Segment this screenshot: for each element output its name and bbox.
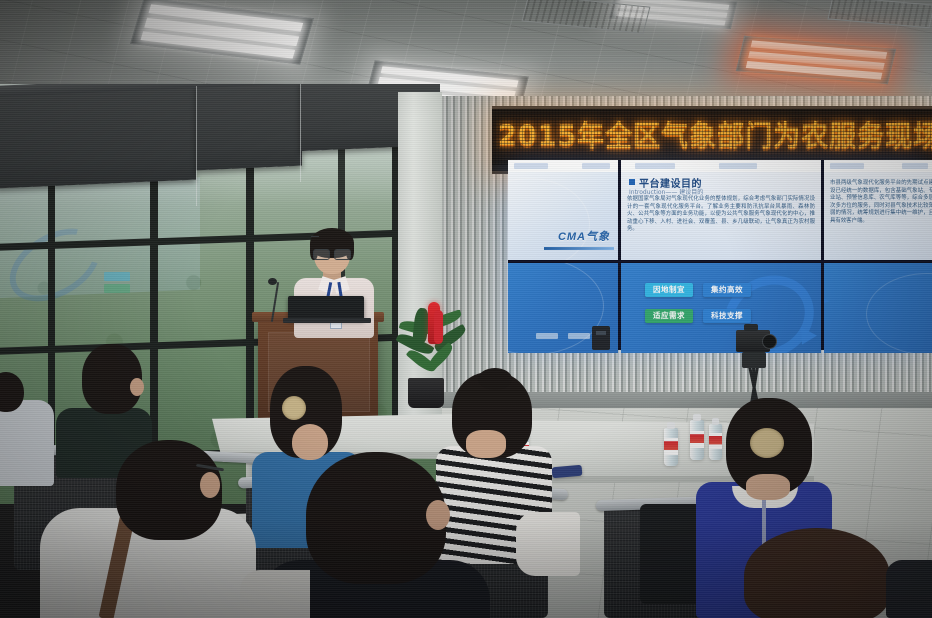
audience-person-1-torso — [0, 400, 54, 486]
audience-person-4-hair-bun — [478, 368, 512, 390]
panel6-arrow-tip — [824, 289, 830, 313]
plant-pot — [408, 378, 444, 408]
audience-person-6-head — [306, 452, 446, 584]
video-wall-panel-3: 市县两级气象现代化服务平台的先期试点建设已经统一的数据库，包含基础气象站、专业站… — [824, 160, 932, 260]
audience-person-9-torso — [886, 560, 932, 618]
slide-body-paragraph-2: 市县两级气象现代化服务平台的先期试点建设已经统一的数据库，包含基础气象站、专业站… — [830, 180, 932, 226]
water-bottle-2[interactable] — [664, 422, 678, 466]
audience-person-6-shoulder — [240, 570, 310, 618]
conference-room-photo: 2015年全区气象部门为农服务现场推进会 CMA气象 平台建设目的 — [0, 0, 932, 618]
slide-chip-4: 科技支撑 — [703, 309, 751, 323]
slide-tab-core-product — [719, 163, 757, 169]
presenter-glasses — [313, 249, 351, 258]
audience-person-8-head — [744, 528, 890, 618]
roller-blind-2[interactable] — [196, 84, 302, 170]
slide-tab-core-value — [582, 163, 610, 169]
water-bottle-4[interactable] — [709, 418, 722, 460]
podium-microphone-head — [268, 278, 277, 285]
podium-laptop-base — [283, 318, 371, 323]
led-pixel-grid — [492, 109, 932, 165]
slide-body-paragraph-1: 依据国家气象局对气象现代化业务的整体规划，综合考虑气象部门实际情况设计的一套气象… — [627, 196, 815, 234]
video-wall-grid: CMA气象 平台建设目的 Introduction—— 建设目的 依据国家气象局… — [508, 160, 932, 350]
video-wall-panel-6 — [824, 263, 932, 353]
audience-person-7-neck — [746, 474, 790, 500]
audience-person-7-hair-scrunchie — [750, 428, 784, 458]
slide-chip-3: 适应需求 — [645, 309, 693, 323]
roller-blind-1[interactable] — [0, 84, 196, 188]
blind-pull-chain-2[interactable] — [300, 84, 301, 182]
slide-tab-summary — [902, 163, 928, 169]
slide-tab-introduction — [514, 163, 548, 169]
slide-watermark: CMA气象 — [558, 228, 610, 244]
slide-bullet-icon — [629, 179, 635, 185]
panel4-button-1[interactable] — [536, 333, 558, 339]
podium-laptop[interactable] — [288, 296, 364, 320]
video-wall[interactable]: CMA气象 平台建设目的 Introduction—— 建设目的 依据国家气象局… — [508, 160, 932, 350]
slide-tab-key-technology — [830, 163, 864, 169]
video-wall-panel-1: CMA气象 — [508, 160, 618, 260]
panel6-swoosh — [866, 273, 932, 353]
panel4-swoosh — [508, 263, 604, 353]
av-device — [592, 326, 610, 350]
presenter-glasses-bridge — [311, 236, 319, 237]
blind-pull-chain-1[interactable] — [196, 86, 197, 206]
audience-person-6-ear — [426, 500, 450, 530]
av-device-indicator — [596, 331, 606, 335]
slide-watermark-bar — [544, 247, 614, 250]
plant-red-flower-2 — [434, 310, 443, 344]
camera-lens-icon — [762, 334, 777, 349]
slide-chip-2: 集约高效 — [703, 283, 751, 297]
video-wall-panel-2: 平台建设目的 Introduction—— 建设目的 依据国家气象局对气象现代化… — [621, 160, 821, 260]
video-wall-panel-5: 因地制宜 集约高效 适应需求 科技支撑 — [621, 263, 821, 353]
water-bottle-3[interactable] — [690, 414, 704, 460]
audience-person-3-neck — [292, 424, 328, 460]
panel4-button-2[interactable] — [568, 333, 590, 339]
slide-tab-core-technology — [635, 163, 675, 169]
audience-person-4-neck — [466, 430, 506, 458]
audience-person-2-ear — [130, 378, 144, 396]
camera-viewfinder — [744, 324, 758, 331]
audience-person-4-trousers — [516, 512, 580, 576]
tripod-head — [742, 352, 766, 368]
audience-person-5-ear — [200, 472, 220, 498]
audience-person-3-hair-scrunchie — [282, 396, 306, 420]
slide-subtitle: Introduction—— 建设目的 — [629, 187, 703, 196]
slide-chip-1: 因地制宜 — [645, 283, 693, 297]
